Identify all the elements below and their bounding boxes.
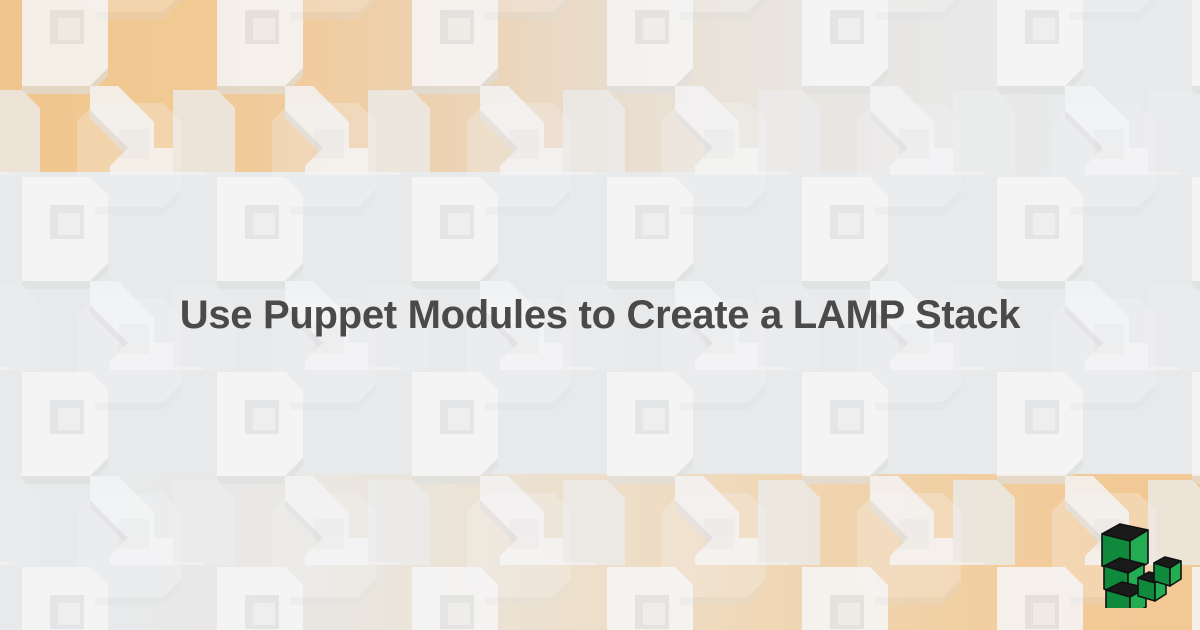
- social-share-card: Use Puppet Modules to Create a LAMP Stac…: [0, 0, 1200, 630]
- puppet-logo: [1094, 516, 1186, 608]
- cube-tile-pattern: [0, 0, 1200, 630]
